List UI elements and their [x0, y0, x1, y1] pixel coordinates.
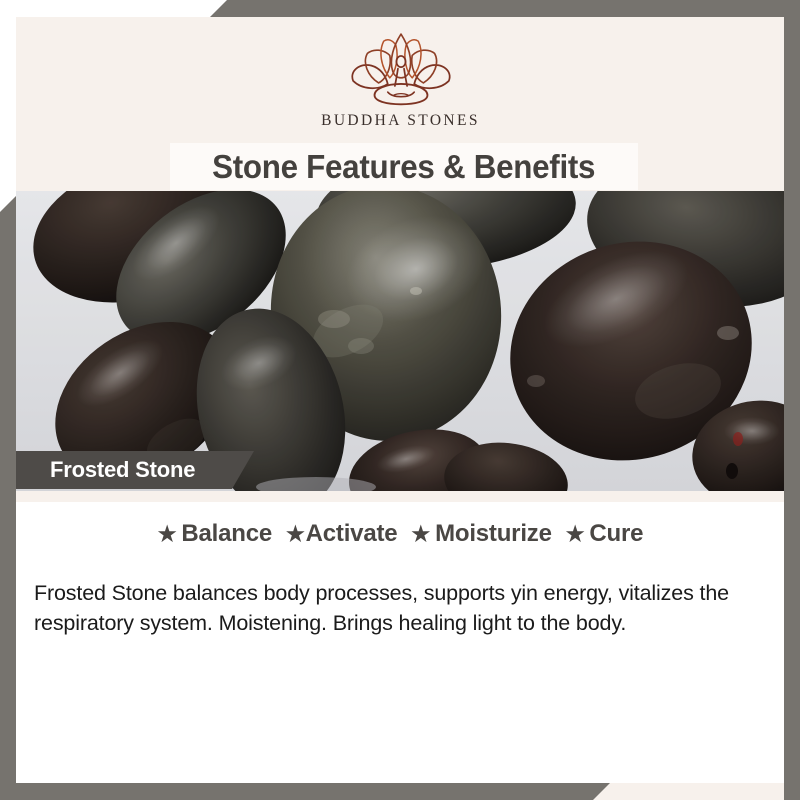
stone-features-poster: BUDDHA STONES Stone Features & Benefits: [0, 0, 800, 800]
frame-band-top: [210, 0, 800, 17]
page-title-plate: Stone Features & Benefits: [170, 143, 638, 190]
frame-band-left: [0, 196, 16, 800]
frame-band-right: [784, 0, 800, 800]
benefit-item-moisturize: ★ Moisturize: [411, 520, 551, 548]
stone-name-ribbon: Frosted Stone: [16, 451, 254, 489]
benefit-label: Activate: [306, 520, 398, 548]
frame-band-bottom: [0, 783, 610, 800]
description-text: Frosted Stone balances body processes, s…: [34, 578, 764, 639]
stone-name-label: Frosted Stone: [16, 457, 195, 483]
star-icon: ★: [286, 524, 305, 545]
star-icon: ★: [411, 524, 430, 545]
frosted-stone-photo: [16, 191, 785, 491]
benefit-item-cure: ★ Cure: [566, 520, 644, 548]
benefit-label: Cure: [589, 520, 643, 548]
benefit-label: Moisturize: [435, 520, 552, 548]
brand-name: BUDDHA STONES: [321, 112, 480, 130]
star-icon: ★: [158, 524, 177, 545]
star-icon: ★: [566, 524, 585, 545]
benefit-item-activate: ★ Activate: [286, 520, 397, 548]
lotus-meditation-figure-icon: [345, 31, 457, 109]
benefit-label: Balance: [181, 520, 272, 548]
benefit-item-balance: ★ Balance: [158, 520, 272, 548]
page-title: Stone Features & Benefits: [212, 148, 595, 186]
benefits-row: ★ Balance ★ Activate ★ Moisturize ★ Cure: [16, 520, 785, 548]
brand-header: BUDDHA STONES: [16, 17, 785, 147]
